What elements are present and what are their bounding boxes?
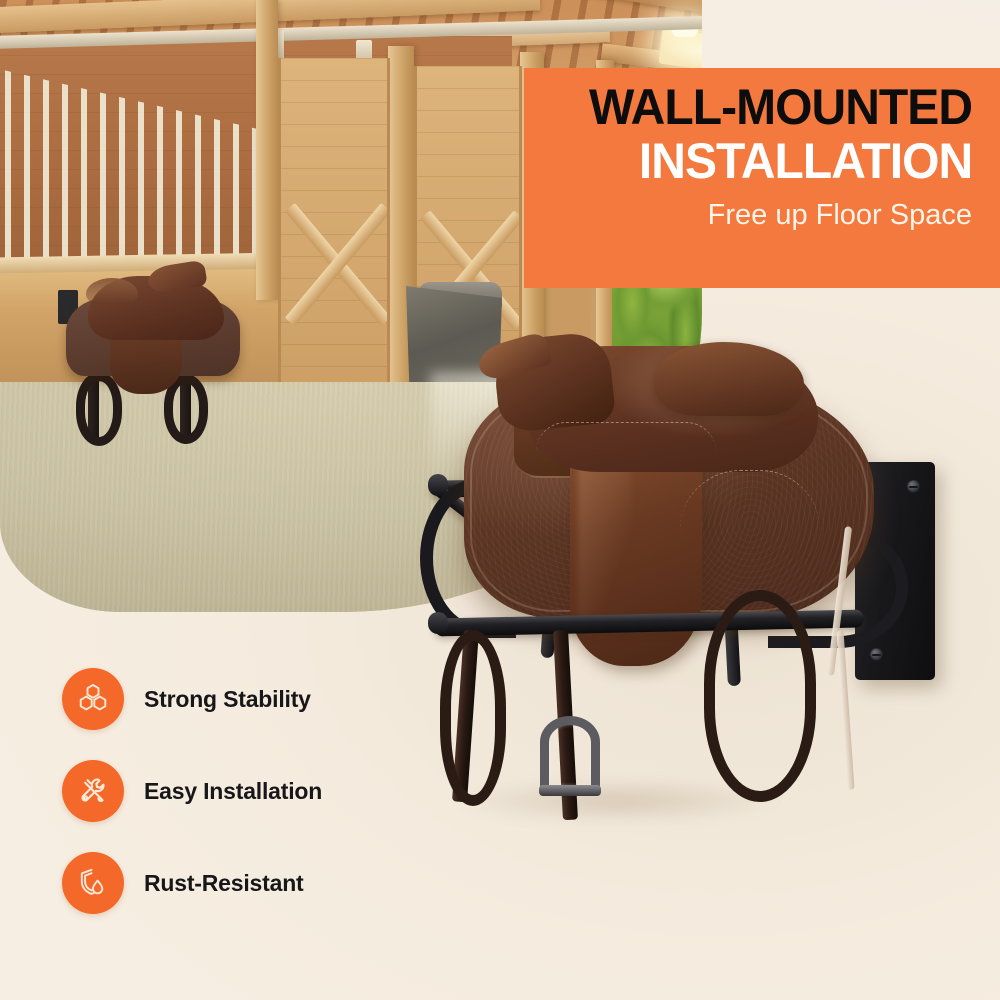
- headline-line-1: WALL-MOUNTED: [589, 82, 972, 133]
- feature-item: Rust-Resistant: [62, 852, 392, 914]
- barn-post: [256, 0, 278, 300]
- stirrup-leather-loop: [440, 630, 506, 806]
- feature-item: Easy Installation: [62, 760, 392, 822]
- stirrup-leather-loop: [704, 590, 816, 802]
- headline-subtext: Free up Floor Space: [708, 198, 972, 233]
- feature-list: Strong Stability Easy Installation: [62, 668, 392, 944]
- shield-droplet-icon: [62, 852, 124, 914]
- saddle-stitching: [680, 470, 820, 590]
- product-banner-stage: WALL-MOUNTED INSTALLATION Free up Floor …: [0, 0, 1000, 1000]
- stirrup-tread: [539, 785, 601, 796]
- feature-label: Rust-Resistant: [144, 870, 304, 897]
- honeycomb-hexagons-icon: [62, 668, 124, 730]
- rack-bar-end-cap: [428, 474, 448, 496]
- wrench-screwdriver-icon: [62, 760, 124, 822]
- feature-label: Easy Installation: [144, 778, 322, 805]
- saddle-stitching: [536, 422, 716, 482]
- background-saddle-pommel: [86, 278, 138, 304]
- rack-bar-end-cap: [428, 612, 448, 634]
- headline-banner-text: WALL-MOUNTED INSTALLATION Free up Floor …: [524, 68, 1000, 288]
- feature-item: Strong Stability: [62, 668, 392, 730]
- stirrup-iron: [540, 716, 600, 794]
- feature-label: Strong Stability: [144, 686, 311, 713]
- background-mounted-saddle: [52, 262, 264, 452]
- headline-line-2: INSTALLATION: [639, 135, 972, 188]
- product-saddle-rack: [418, 330, 978, 870]
- saddle-cantle: [654, 342, 804, 416]
- background-stirrup-loop: [76, 372, 122, 446]
